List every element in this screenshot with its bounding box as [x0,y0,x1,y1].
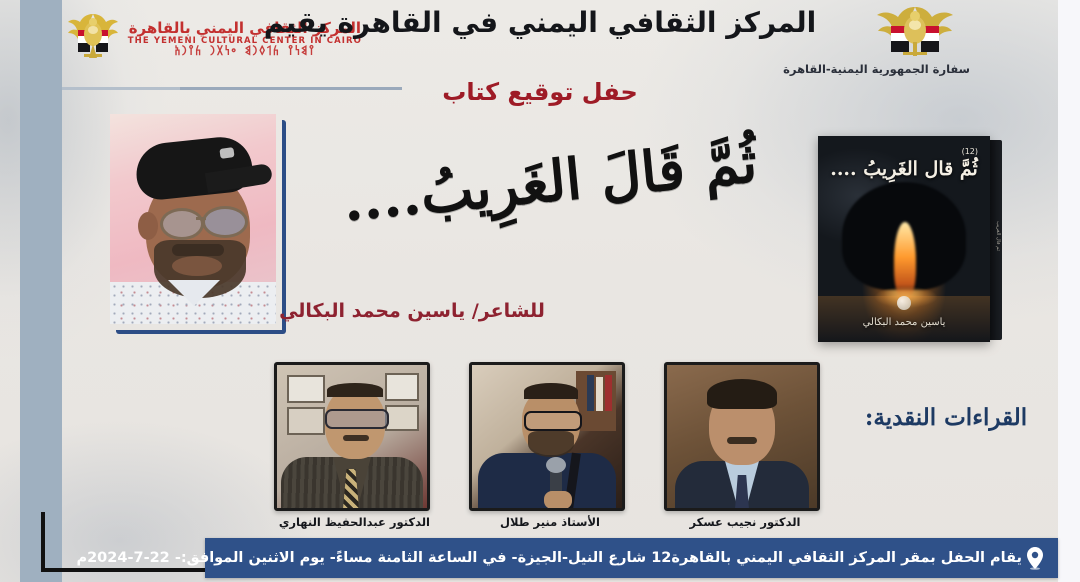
background-book [596,377,603,411]
speaker-photo-nahari [274,362,430,511]
embassy-caption: سفارة الجمهورية اليمنية-القاهرة [860,62,970,76]
speaker-hand [544,491,572,509]
event-poster: المركز الثقافي اليمني بالقاهرة THE YEMEN… [0,0,1080,582]
author-portrait-frame [110,114,276,324]
background-frame [287,407,325,435]
speaker-photo-talal [469,362,625,511]
portrait-chin [172,256,222,276]
speaker-hair [524,383,578,399]
background-frame [385,373,419,401]
speaker-name: الدكتور نجيب عسكر [670,515,820,529]
speaker-beard [528,431,574,457]
cover-title: ثُمَّ قال الغَرِيبُ .... [818,158,990,182]
portrait-moustache [172,244,224,256]
speaker-card: الدكتور عبدالحفيظ النهاري [280,362,430,522]
portrait-cap-logo [219,147,234,159]
event-subtitle: حفل توقيع كتاب [0,78,1080,106]
cover-series-badge: (12) [962,147,978,156]
portrait-ear [138,212,158,240]
book-cover-mockup: ثم قال الغريب (12) ثُمَّ قال الغَرِيبُ .… [818,136,990,342]
corner-line-vertical [41,512,45,572]
cover-author: ياسين محمد البكالي [818,317,990,328]
speakers-row: الدكتور نجيب عسكر الأستاذ منير طلال [280,362,820,522]
author-photo [110,114,276,324]
background-book [587,375,594,411]
background-book [605,375,612,411]
portrait-glasses-left [160,208,204,240]
corner-line-horizontal [41,568,211,572]
book-front-cover: (12) ثُمَّ قال الغَرِيبُ .... ياسين محمد… [818,136,990,342]
background-frame [385,405,419,431]
microphone-head-icon [546,457,566,473]
speaker-name: الدكتور عبدالحفيظ النهاري [280,515,430,529]
book-title-calligraphy: ثُمَّ قَالَ الغَرِيبُ.... [328,129,772,235]
critics-section-label: القراءات النقدية: [836,404,1056,431]
cultural-center-name-musnad: 𐩺𐩣𐩬𐩺 𐩫𐩡𐩰𐩧𐩣 𐩲𐩬𐩩𐩧 𐩫𐩺𐩧𐩱 [174,46,315,58]
speaker-hair [327,383,383,397]
event-details-text: يقام الحفل بمقر المركز الثقافي اليمني با… [76,550,1022,566]
cover-publisher-seal-icon [897,296,911,310]
speaker-moustache [727,437,757,444]
speaker-photo-askar [664,362,820,511]
speaker-glasses [325,409,389,429]
portrait-glasses-bridge [196,217,206,220]
background-frame [287,375,325,403]
book-spine-text: ثم قال الغريب [989,166,1001,306]
speaker-card: الأستاذ منير طلال [475,362,625,522]
event-details-banner: يقام الحفل بمقر المركز الثقافي اليمني با… [205,538,1058,578]
speaker-hair [707,379,777,409]
page-title: المركز الثقافي اليمني في القاهرة يقيم [0,6,1080,39]
location-pin-icon [1022,546,1048,570]
speaker-name: الأستاذ منير طلال [475,515,625,529]
speaker-moustache [343,435,369,441]
book-author-line: للشاعر/ ياسين محمد البكالي [262,300,562,322]
speaker-glasses [524,411,582,431]
speaker-card: الدكتور نجيب عسكر [670,362,820,522]
portrait-glasses-right [202,206,248,238]
